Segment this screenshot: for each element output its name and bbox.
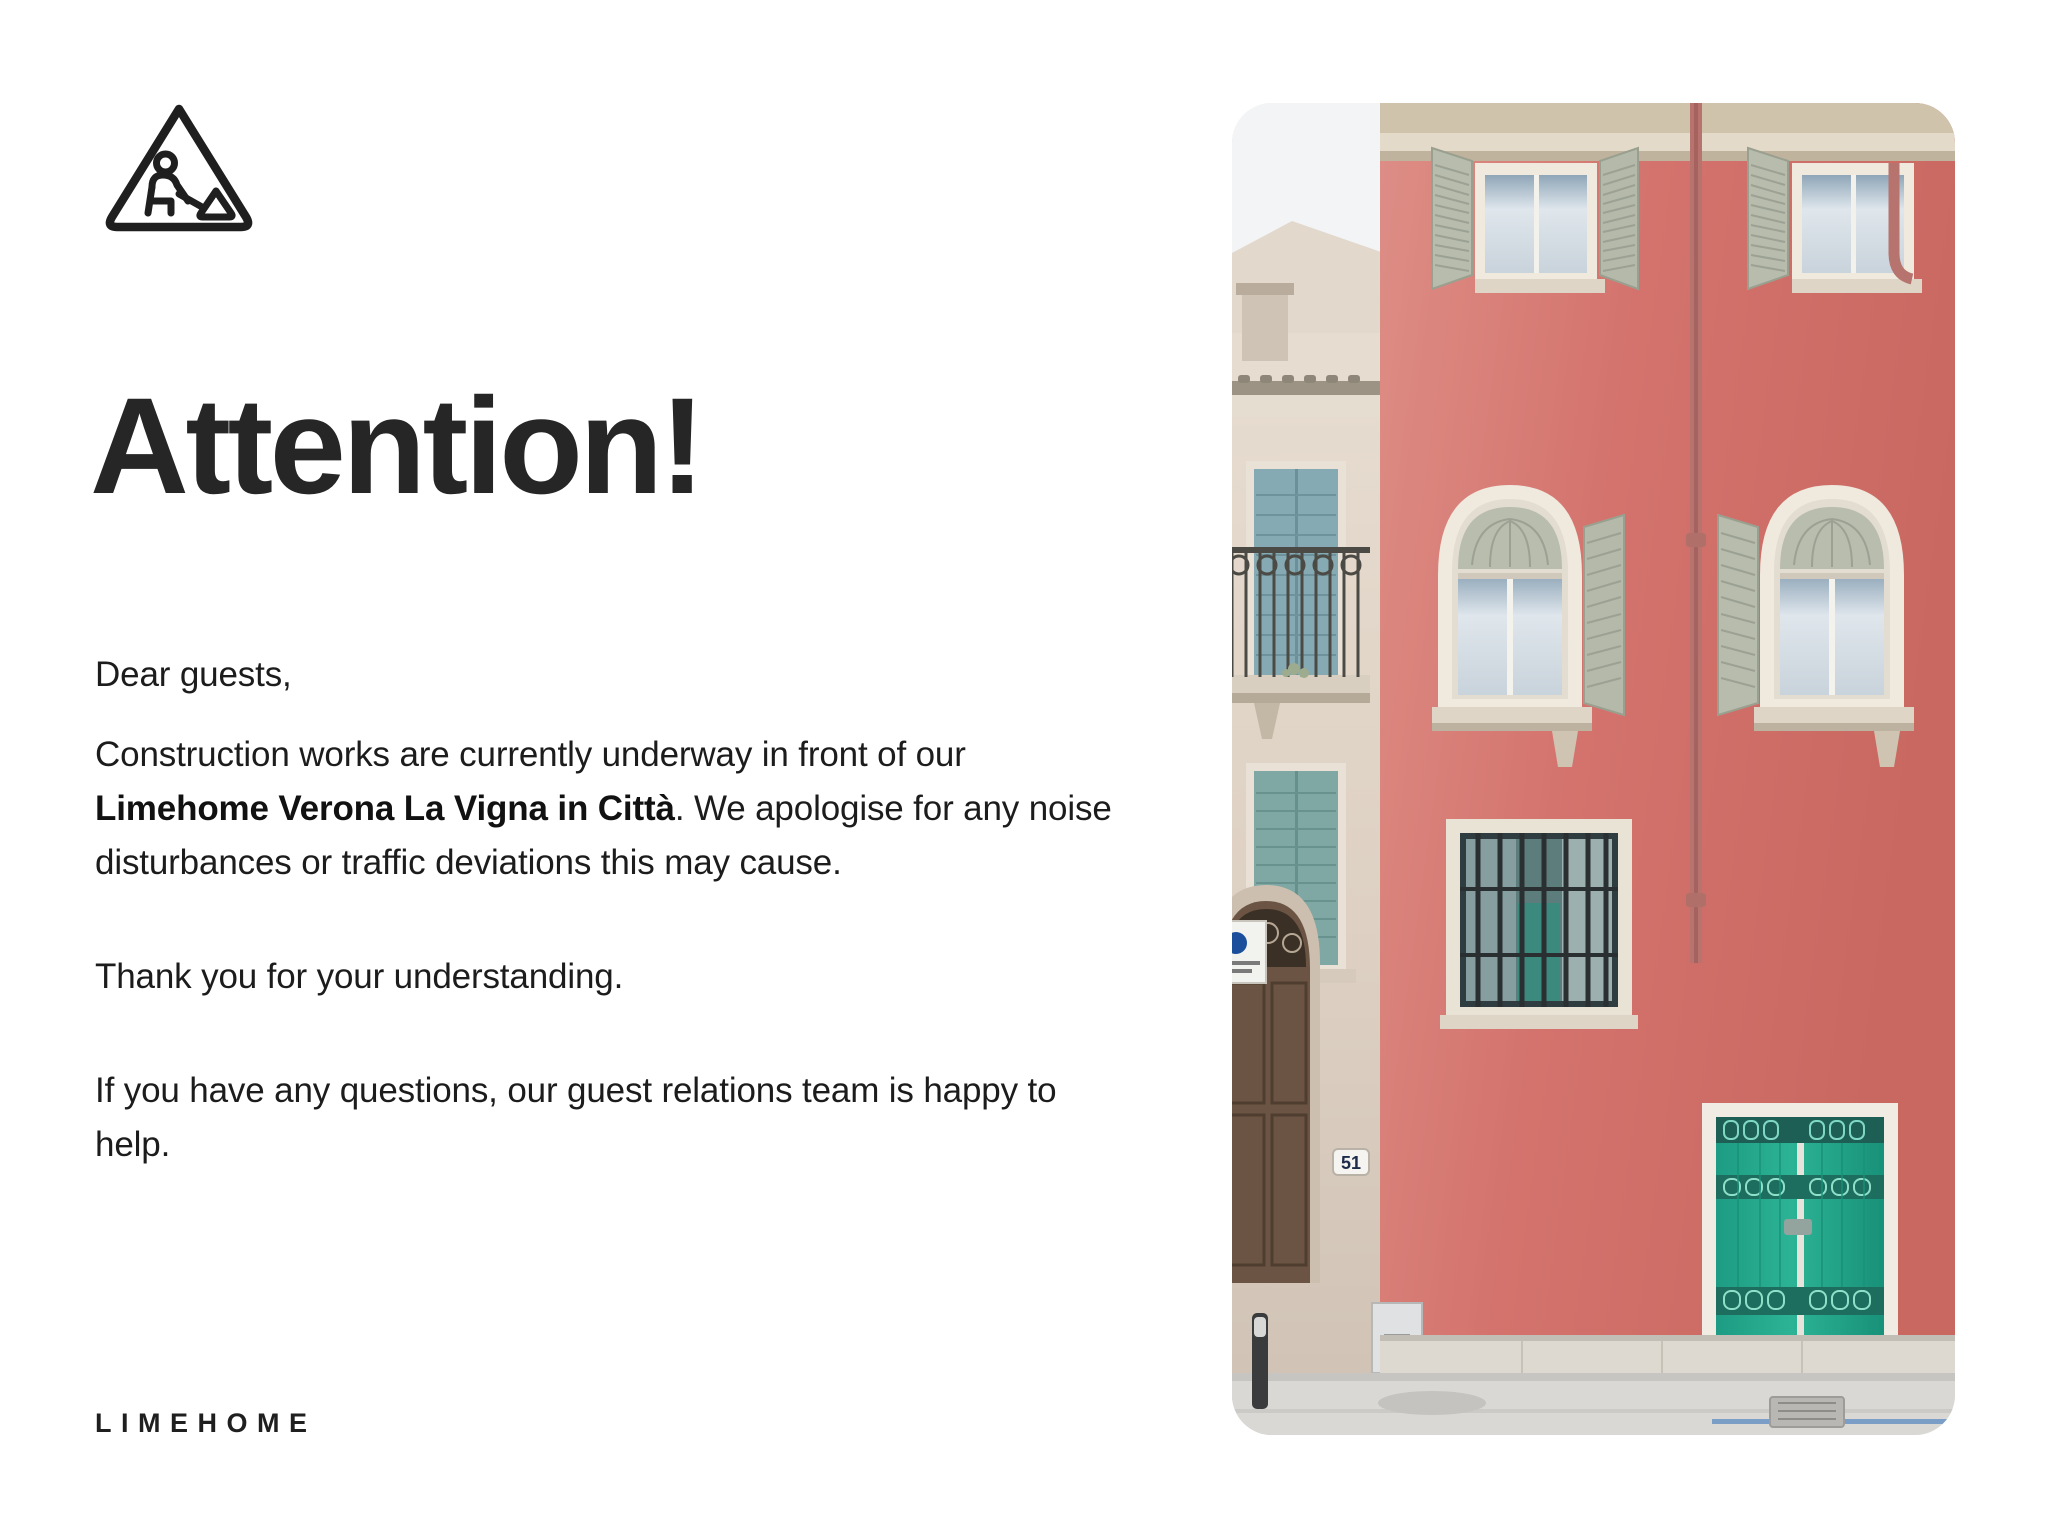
limehome-logo: LIMEHOME [95, 1408, 317, 1439]
salutation-text: Dear guests, [95, 648, 1115, 702]
construction-warning-icon [95, 95, 263, 235]
house-number-label: 51 [1341, 1153, 1361, 1173]
thanks-paragraph: Thank you for your understanding. [95, 950, 1115, 1004]
construction-paragraph: Construction works are currently underwa… [95, 728, 1115, 890]
page-title: Attention! [90, 378, 702, 515]
building-facade-photo: 51 [1232, 103, 1955, 1435]
questions-paragraph: If you have any questions, our guest rel… [95, 1064, 1115, 1172]
property-name: Limehome Verona La Vigna in Città [95, 789, 675, 828]
poster-canvas: Attention! Dear guests, Construction wor… [0, 0, 2048, 1536]
construction-paragraph-prefix: Construction works are currently underwa… [95, 735, 966, 774]
body-copy: Dear guests, Construction works are curr… [95, 648, 1115, 1172]
content-column: Attention! Dear guests, Construction wor… [95, 0, 1155, 1536]
